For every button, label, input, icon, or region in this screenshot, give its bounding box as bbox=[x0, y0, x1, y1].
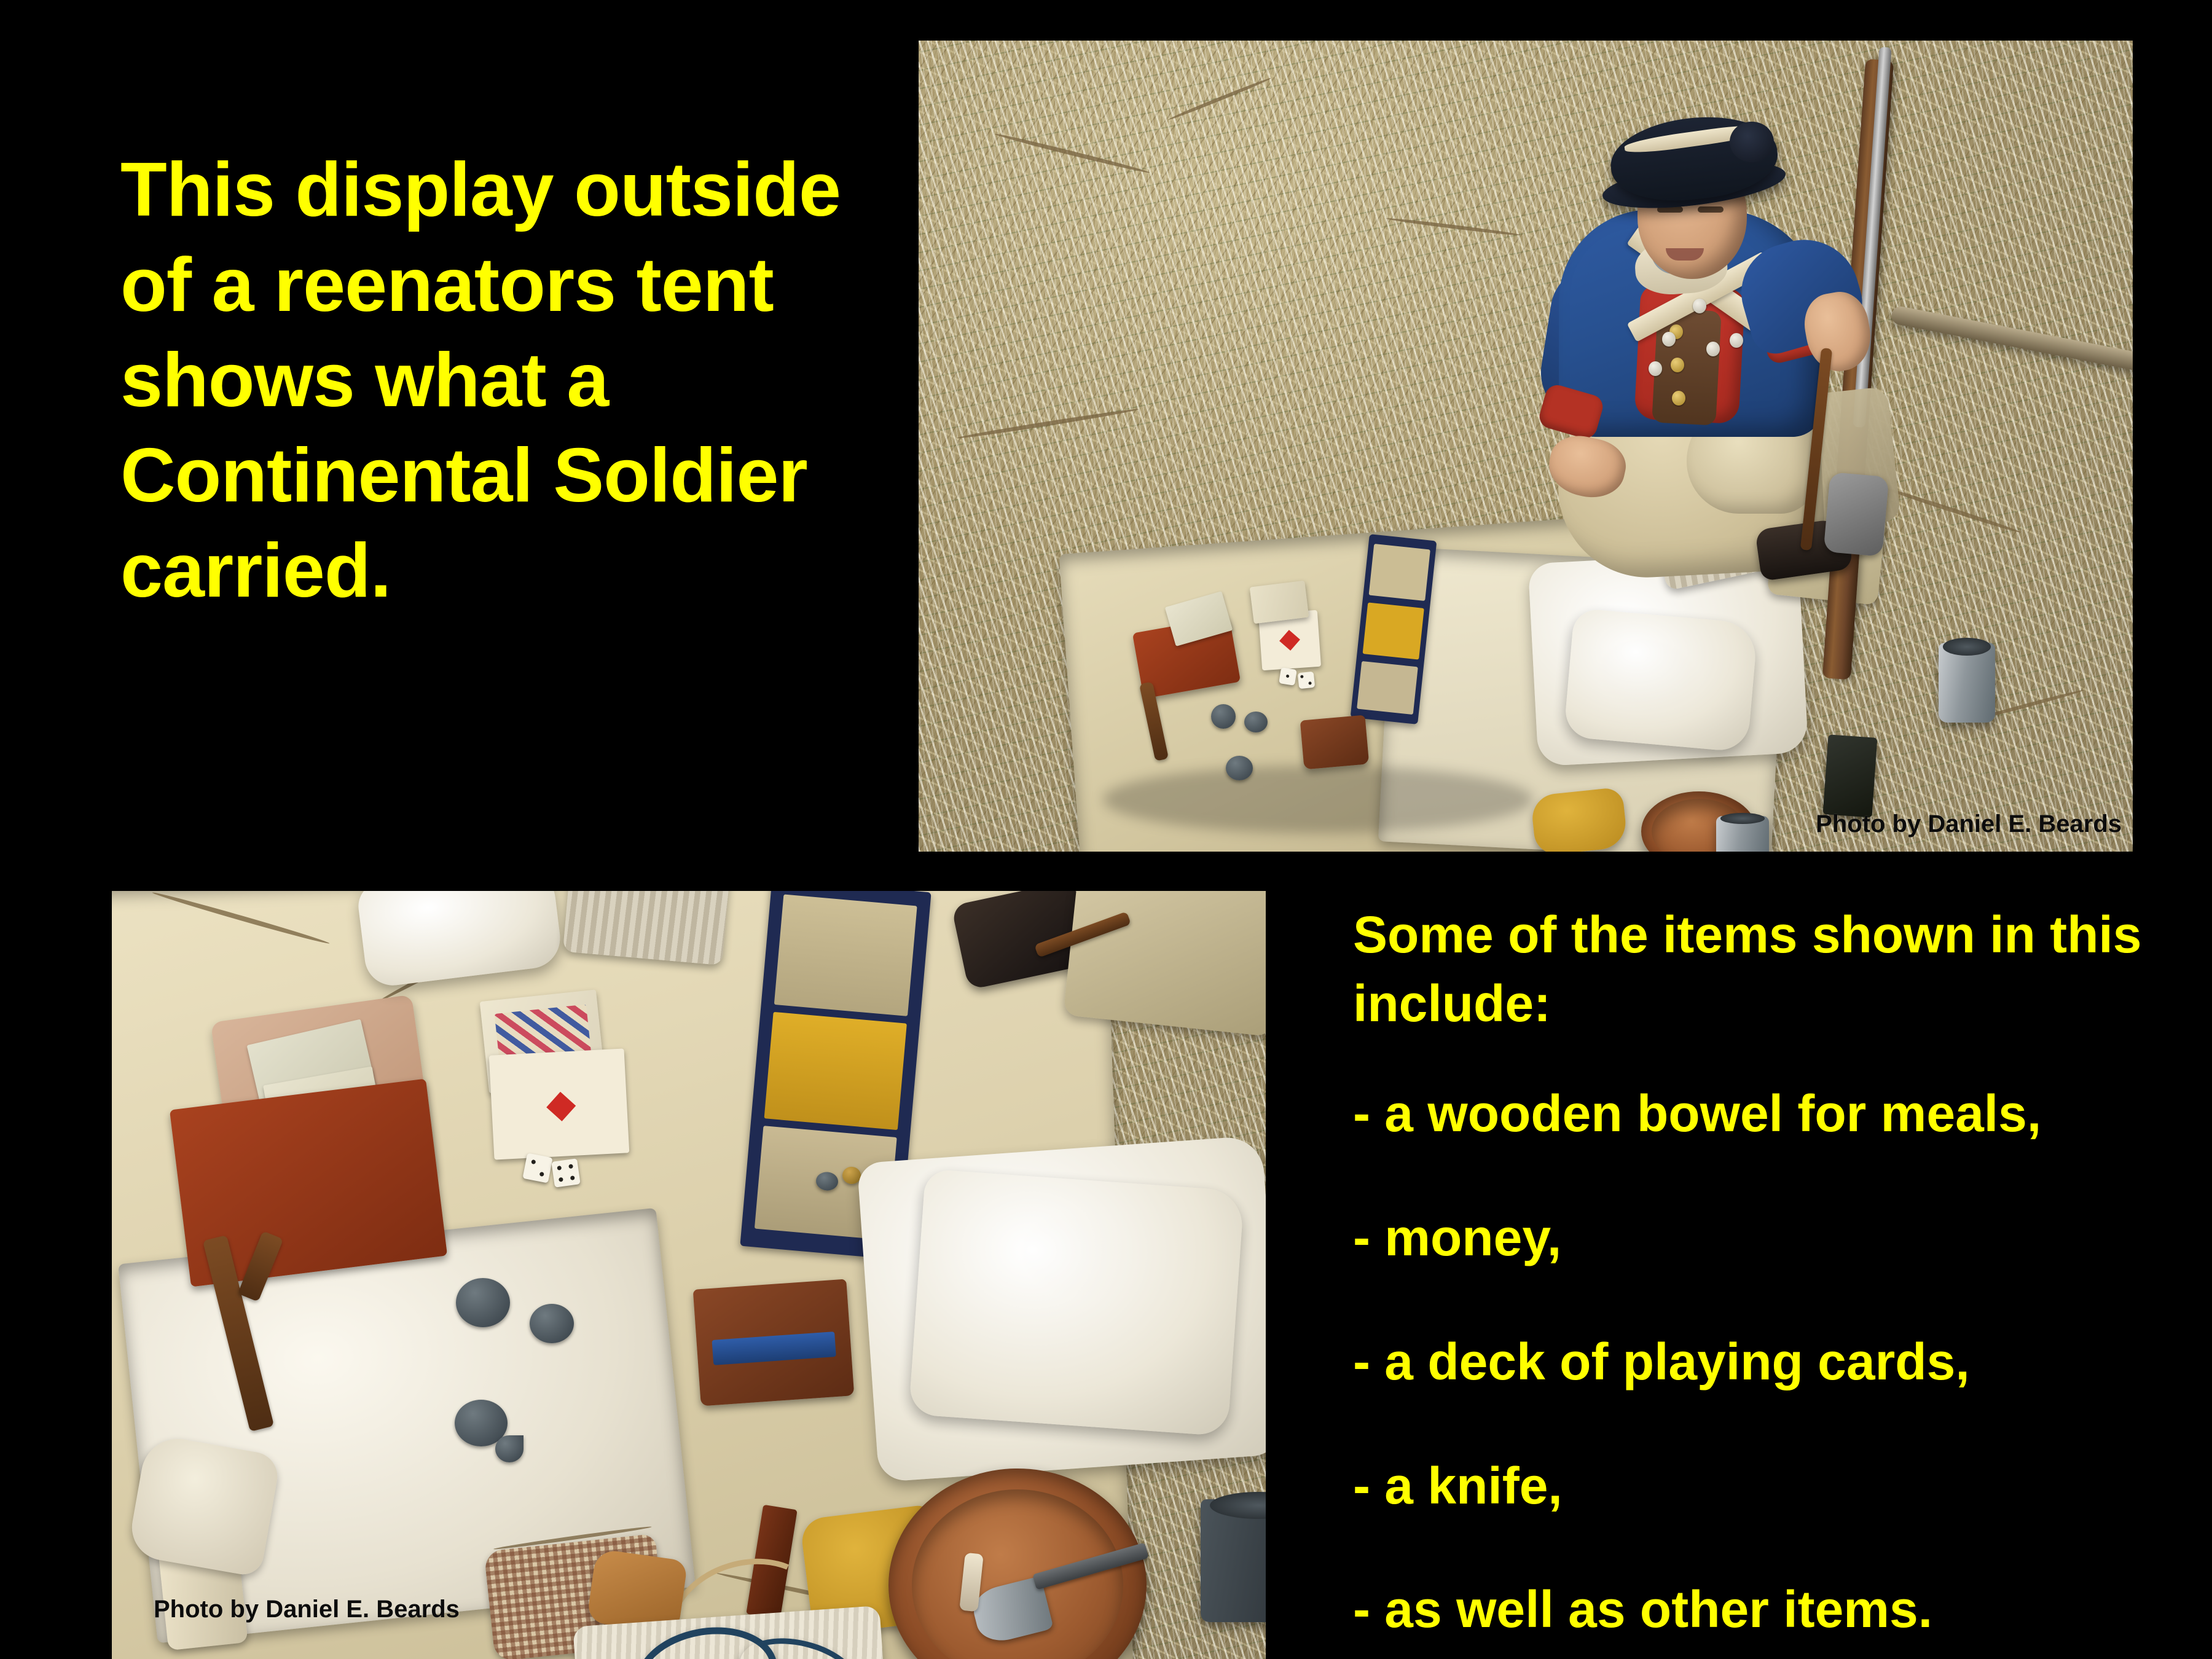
playing-card-face bbox=[1250, 581, 1309, 624]
page-title: This display outside of a reenators tent… bbox=[120, 143, 876, 619]
items-lead: Some of the items shown in this include: bbox=[1353, 901, 2170, 1038]
coin bbox=[456, 1278, 510, 1327]
dice bbox=[1298, 672, 1316, 689]
dice bbox=[551, 1158, 580, 1187]
tin-cup bbox=[1939, 643, 1995, 723]
list-item: - a deck of playing cards, bbox=[1353, 1328, 2170, 1397]
yellow-sack bbox=[1530, 786, 1628, 852]
title-line-5: carried. bbox=[120, 524, 876, 619]
coin bbox=[530, 1304, 574, 1343]
soldier-figure bbox=[1545, 84, 1865, 618]
coin bbox=[1244, 712, 1268, 732]
photo-kit-scene bbox=[112, 891, 1266, 1659]
items-lead-line-2: include: bbox=[1353, 970, 2170, 1038]
photo-kit-closeup: Photo by Daniel E. Beards bbox=[112, 891, 1266, 1659]
coin-fragment bbox=[495, 1435, 524, 1462]
coin bbox=[1211, 704, 1236, 729]
tin-canister bbox=[1823, 734, 1878, 817]
list-item: - money, bbox=[1353, 1204, 2170, 1273]
tin-pot bbox=[1201, 1499, 1266, 1622]
haversack bbox=[1063, 891, 1266, 1037]
items-list: Some of the items shown in this include:… bbox=[1353, 901, 2170, 1644]
folded-linen bbox=[1563, 608, 1758, 752]
list-item: - a wooden bowel for meals, bbox=[1353, 1080, 2170, 1148]
dice bbox=[522, 1153, 552, 1183]
title-line-2: of a reenators tent bbox=[120, 238, 876, 333]
title-line-4: Continental Soldier bbox=[120, 428, 876, 524]
photo-soldier-scene bbox=[919, 41, 2133, 852]
photo-credit: Photo by Daniel E. Beards bbox=[154, 1596, 460, 1623]
wooden-box bbox=[693, 1279, 855, 1406]
coin bbox=[1226, 756, 1253, 780]
tin-pot bbox=[1716, 816, 1769, 852]
hat-cockade bbox=[1730, 122, 1774, 162]
list-item: - as well as other items. bbox=[1353, 1575, 2170, 1644]
list-item: - a knife, bbox=[1353, 1452, 2170, 1521]
dice bbox=[1279, 667, 1297, 686]
photo-soldier: Photo by Daniel E. Beards bbox=[919, 41, 2133, 852]
title-line-1: This display outside bbox=[120, 143, 876, 238]
items-lead-line-1: Some of the items shown in this bbox=[1353, 901, 2170, 970]
linen-shirt-fold bbox=[909, 1169, 1245, 1436]
linen-bag bbox=[127, 1433, 281, 1577]
playing-cards-deck bbox=[489, 1048, 630, 1159]
wooden-box bbox=[1300, 715, 1370, 770]
title-line-3: shows what a bbox=[120, 333, 876, 428]
photo-credit: Photo by Daniel E. Beards bbox=[1816, 810, 2122, 838]
musket-lock bbox=[1824, 472, 1889, 557]
slide-canvas: This display outside of a reenators tent… bbox=[0, 0, 2212, 1659]
